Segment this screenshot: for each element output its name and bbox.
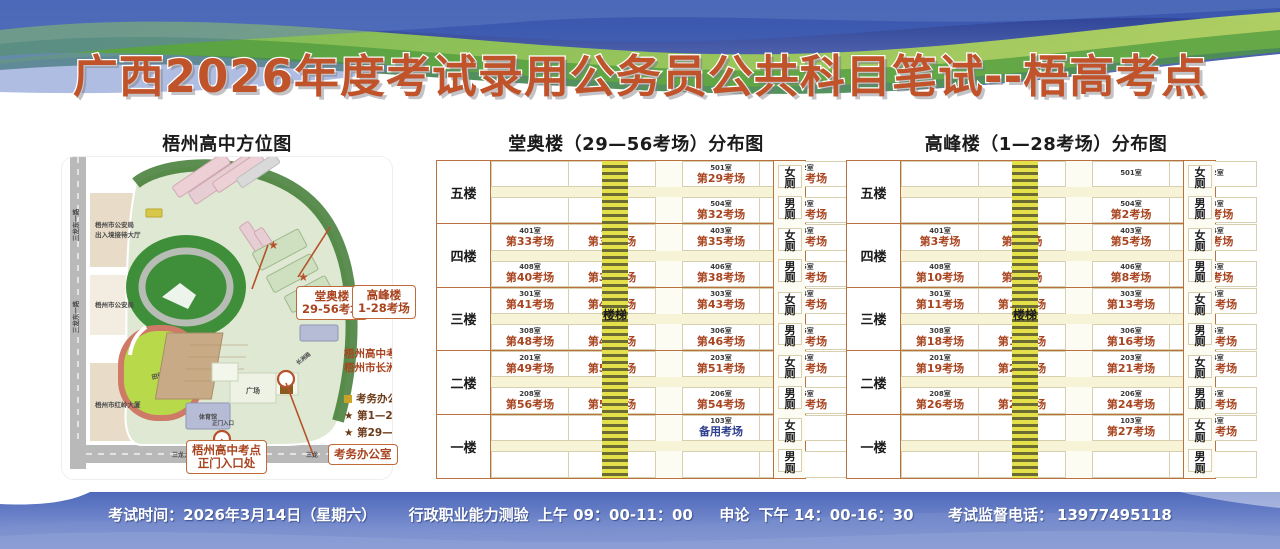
corridor (901, 377, 1183, 387)
restroom-female: 女厕 (1188, 228, 1212, 251)
exam-room-cell[interactable]: 303室第43考场 (682, 288, 760, 314)
restroom-male: 男厕 (778, 259, 802, 282)
tangao-panel-title: 堂奥楼（29—56考场）分布图 (436, 130, 836, 156)
room-number: 203室 (1120, 355, 1142, 362)
callout-gaofeng: 高峰楼1-28考场 (352, 285, 416, 319)
exam-room-name: 第21考场 (1107, 363, 1155, 374)
room-band-bottom: 408室第10考场407室第9考场406室第8考场405室第7考场 (901, 261, 1183, 287)
title-container: 广西2026年度考试录用公务员公共科目笔试--梧高考点 (0, 40, 1280, 112)
room-band-top: 501室502室 (901, 161, 1183, 187)
corridor (491, 187, 773, 197)
exam-room-name: 第49考场 (506, 363, 554, 374)
corridor (901, 251, 1183, 261)
exam-room-cell[interactable]: 301室第11考场 (901, 288, 979, 314)
header-banner: 广西2026年度考试录用公务员公共科目笔试--梧高考点 (0, 0, 1280, 118)
label-police-reception-1: 梧州市公安局 (95, 220, 135, 229)
footer-subject-1: 行政职业能力测验 (409, 506, 529, 524)
room-band-top: 201室第19考场202室第20考场203室第21考场204室第22考场 (901, 351, 1183, 377)
room-number: 306室 (710, 328, 732, 335)
room-band-bottom: 504室第2考场503室第1考场 (901, 197, 1183, 223)
empty-cell (491, 415, 569, 442)
page-title: 广西2026年度考试录用公务员公共科目笔试--梧高考点 (73, 40, 1208, 105)
exam-room-cell[interactable]: 504室第2考场 (1092, 197, 1170, 223)
corridor (491, 251, 773, 261)
room-band-bottom: 208室第26考场207室第25考场206室第24考场205室第23考场 (901, 387, 1183, 413)
exam-room-cell[interactable]: 203室第51考场 (682, 351, 760, 377)
floor-label: 三楼 (437, 288, 491, 350)
map-panel-title: 梧州高中方位图 (62, 130, 392, 156)
exam-room-name: 第32考场 (697, 209, 745, 220)
star-gaofeng: ★ (298, 270, 309, 284)
exam-room-cell[interactable]: 303室第13考场 (1092, 288, 1170, 314)
room-band-top: 201室第49考场202室第50考场203室第51考场204室第52考场 (491, 351, 773, 377)
room-number: 504室 (710, 201, 732, 208)
exam-room-name: 第16考场 (1107, 336, 1155, 347)
corridor (901, 314, 1183, 324)
restroom-female: 女厕 (1188, 418, 1212, 441)
exam-room-name: 第2考场 (1111, 209, 1152, 220)
room-band-bottom: 308室第18考场307室第17考场306室第16考场305室第15考场 (901, 324, 1183, 350)
restroom-female: 女厕 (778, 228, 802, 251)
exam-room-name: 第18考场 (916, 336, 964, 347)
restroom-female: 女厕 (1188, 165, 1212, 188)
floor-rooms: 501室第29考场502室第30考场504室第32考场503室第31考场 (491, 161, 773, 223)
room-band-bottom: 308室第48考场307室第47考场306室第46考场305室第45考场 (491, 324, 773, 350)
empty-cell (901, 197, 979, 223)
legend-item-tangao: ★ 第29—56考场在堂奥楼 (344, 425, 392, 440)
legend-item-gaofeng: ★ 第1—28考场在高峰楼 (344, 408, 392, 423)
exam-room-cell[interactable]: 301室第41考场 (491, 288, 569, 314)
restroom-female: 女厕 (1188, 355, 1212, 378)
exam-room-cell[interactable]: 403室第5考场 (1092, 224, 1170, 250)
restroom-male: 男厕 (1188, 449, 1212, 472)
exam-room-cell[interactable]: 408室第10考场 (901, 261, 979, 287)
room-band-top: 501室第29考场502室第30考场 (491, 161, 773, 187)
restroom-male: 男厕 (778, 449, 802, 472)
footer-hotline-label: 考试监督电话： (948, 506, 1053, 524)
exam-room-cell[interactable]: 501室 (1092, 161, 1170, 187)
room-number: 206室 (1120, 391, 1142, 398)
exam-room-name: 第13考场 (1107, 299, 1155, 310)
room-number: 403室 (1120, 228, 1142, 235)
floor-rooms: 301室第11考场302室第12考场303室第13考场304室第14考场308室… (901, 288, 1183, 350)
room-band-top: 103室第27考场104室第28考场 (901, 415, 1183, 442)
exam-room-name: 第8考场 (1111, 272, 1152, 283)
footer-time-2: 下午 14：00-16：30 (759, 506, 914, 524)
exam-room-cell[interactable]: 103室备用考场 (682, 415, 760, 442)
floor-label: 四楼 (847, 224, 901, 286)
floor-label: 三楼 (847, 288, 901, 350)
room-band-bottom: 504室第32考场503室第31考场 (491, 197, 773, 223)
exam-room-name: 第41考场 (506, 299, 554, 310)
floor-rooms: 501室502室504室第2考场503室第1考场 (901, 161, 1183, 223)
exam-room-cell[interactable]: 406室第38考场 (682, 261, 760, 287)
room-band-bottom (901, 451, 1183, 478)
exam-room-cell[interactable]: 408室第40考场 (491, 261, 569, 287)
corridor (491, 441, 773, 451)
tangao-restroom-column: 女厕男厕女厕男厕女厕男厕女厕男厕女厕男厕 (773, 161, 805, 478)
exam-room-cell[interactable]: 201室第19考场 (901, 351, 979, 377)
gate-inner-label: 正门入口 (212, 419, 234, 427)
restroom-male: 男厕 (1188, 386, 1212, 409)
floor-label: 五楼 (437, 161, 491, 223)
exam-room-name: 第29考场 (697, 173, 745, 184)
corridor (491, 314, 773, 324)
room-number: 403室 (710, 228, 732, 235)
exam-room-cell[interactable]: 206室第54考场 (682, 387, 760, 413)
restroom-male: 男厕 (1188, 323, 1212, 346)
map-address-line2: 梧州市长洲区梧高北路1号 (344, 361, 392, 375)
exam-room-name: 第26考场 (916, 399, 964, 410)
exam-room-name: 第11考场 (916, 299, 964, 310)
exam-room-name: 第48考场 (506, 336, 554, 347)
room-band-bottom (491, 451, 773, 478)
floor-label: 一楼 (847, 415, 901, 478)
exam-room-name: 第3考场 (920, 236, 961, 247)
label-police-reception-2: 出入境接待大厅 (95, 230, 141, 239)
room-number: 201室 (519, 355, 541, 362)
exam-room-name: 备用考场 (699, 426, 743, 437)
exam-room-cell[interactable]: 501室第29考场 (682, 161, 760, 187)
floor-rooms: 201室第19考场202室第20考场203室第21考场204室第22考场208室… (901, 351, 1183, 413)
floor-label: 四楼 (437, 224, 491, 286)
exam-room-cell[interactable]: 401室第3考场 (901, 224, 979, 250)
map-address: 梧州高中考点地址： 梧州市长洲区梧高北路1号 (344, 347, 392, 375)
restroom-male: 男厕 (1188, 196, 1212, 219)
exam-room-name: 第33考场 (506, 236, 554, 247)
restroom-female: 女厕 (1188, 292, 1212, 315)
exam-room-name: 第43考场 (697, 299, 745, 310)
exam-room-name: 第10考场 (916, 272, 964, 283)
restroom-female: 女厕 (778, 418, 802, 441)
label-hongling: 梧州市红岭大厦 (95, 400, 141, 409)
exam-room-cell[interactable]: 208室第26考场 (901, 387, 979, 413)
room-band-bottom: 408室第40考场407室第39考场406室第38考场405室第37考场 (491, 261, 773, 287)
room-band-top: 103室备用考场 (491, 415, 773, 442)
empty-cell (901, 451, 979, 478)
legend-item-office: 考务办公室 (344, 391, 392, 406)
room-band-top: 301室第41考场302室第42考场303室第43考场304室第44考场 (491, 288, 773, 314)
office-square-icon (344, 395, 352, 403)
room-number: 208室 (929, 391, 951, 398)
room-band-top: 401室第33考场402室第34考场403室第35考场404室第36考场 (491, 224, 773, 250)
restroom-male: 男厕 (778, 323, 802, 346)
room-band-bottom: 208室第56考场207室第55考场206室第54考场205室第53考场 (491, 387, 773, 413)
exam-room-name: 第46考场 (697, 336, 745, 347)
exam-room-cell[interactable]: 208室第56考场 (491, 387, 569, 413)
footer-exam-time: 考试时间：2026年3月14日（星期六） (108, 506, 376, 524)
floor-label: 二楼 (847, 351, 901, 413)
exam-room-cell[interactable]: 103室第27考场 (1092, 415, 1170, 442)
corridor (901, 187, 1183, 197)
callout-exam-office: 考务办公室 (328, 444, 398, 465)
footer-subject-2: 申论 (719, 506, 749, 524)
exam-room-name: 第56考场 (506, 399, 554, 410)
floor-rooms: 401室第33考场402室第34考场403室第35考场404室第36考场408室… (491, 224, 773, 286)
footer-hotline-number: 13977495118 (1057, 506, 1172, 524)
room-number: 501室 (1120, 170, 1142, 177)
restroom-female: 女厕 (778, 292, 802, 315)
exam-room-name: 第54考场 (697, 399, 745, 410)
room-number: 308室 (929, 328, 951, 335)
exam-room-name: 第40考场 (506, 272, 554, 283)
gym-label: 体育馆 (199, 413, 217, 421)
empty-cell (901, 415, 979, 442)
exam-room-cell[interactable]: 308室第18考场 (901, 324, 979, 350)
gaofeng-restroom-column: 女厕男厕女厕男厕女厕男厕女厕男厕女厕男厕 (1183, 161, 1215, 478)
road-label-south2: 三龙 (306, 451, 318, 459)
callout-main-gate: 梧州高中考点正门入口处 (186, 440, 267, 474)
exam-room-name: 第19考场 (916, 363, 964, 374)
exam-room-name: 第38考场 (697, 272, 745, 283)
empty-cell (682, 451, 760, 478)
map-legend: 梧州高中考点地址： 梧州市长洲区梧高北路1号 考务办公室 ★ 第1—28考场在高… (344, 347, 392, 440)
room-number: 308室 (519, 328, 541, 335)
map-address-line1: 梧州高中考点地址： (344, 347, 392, 361)
corridor (491, 377, 773, 387)
exam-room-cell[interactable]: 504室第32考场 (682, 197, 760, 223)
road-label-west2: 三龙东一路 (71, 208, 80, 241)
floor-rooms: 401室第3考场402室第4考场403室第5考场404室第6考场408室第10考… (901, 224, 1183, 286)
room-number: 401室 (519, 228, 541, 235)
restroom-female: 女厕 (778, 355, 802, 378)
restroom-male: 男厕 (778, 196, 802, 219)
floor-rooms: 103室第27考场104室第28考场 (901, 415, 1183, 478)
exam-room-cell[interactable]: 403室第35考场 (682, 224, 760, 250)
room-band-top: 301室第11考场302室第12考场303室第13考场304室第14考场 (901, 288, 1183, 314)
gaofeng-panel-title: 高峰楼（1—28考场）分布图 (846, 130, 1246, 156)
floor-label: 二楼 (437, 351, 491, 413)
empty-cell (491, 161, 569, 187)
exam-room-cell[interactable]: 401室第33考场 (491, 224, 569, 250)
floor-rooms: 103室备用考场 (491, 415, 773, 478)
restroom-male: 男厕 (1188, 259, 1212, 282)
room-number: 206室 (710, 391, 732, 398)
floor-rooms: 201室第49考场202室第50考场203室第51考场204室第52考场208室… (491, 351, 773, 413)
exam-room-cell[interactable]: 406室第8考场 (1092, 261, 1170, 287)
star-tangao: ★ (268, 238, 279, 252)
room-number: 501室 (710, 165, 732, 172)
gaofeng-floor-plan[interactable]: 五楼501室502室504室第2考场503室第1考场四楼401室第3考场402室… (846, 160, 1216, 479)
room-number: 504室 (1120, 201, 1142, 208)
exam-room-cell[interactable]: 306室第46考场 (682, 324, 760, 350)
exam-room-name: 第24考场 (1107, 399, 1155, 410)
exam-room-cell[interactable]: 206室第24考场 (1092, 387, 1170, 413)
empty-cell (491, 451, 569, 478)
footer-bar: 考试时间：2026年3月14日（星期六） 行政职业能力测验 上午 09：00-1… (0, 492, 1280, 549)
restroom-male: 男厕 (778, 386, 802, 409)
floor-rooms: 301室第41考场302室第42考场303室第43考场304室第44考场308室… (491, 288, 773, 350)
tangao-floor-plan[interactable]: 五楼501室第29考场502室第30考场504室第32考场503室第31考场四楼… (436, 160, 806, 479)
room-number: 208室 (519, 391, 541, 398)
empty-cell (901, 161, 979, 187)
footer-time-1: 上午 09：00-11：00 (538, 506, 693, 524)
label-police: 梧州市公安局 (95, 300, 135, 309)
room-number: 201室 (929, 355, 951, 362)
floor-label: 五楼 (847, 161, 901, 223)
corridor (901, 441, 1183, 451)
exam-room-cell[interactable]: 201室第49考场 (491, 351, 569, 377)
plaza-label: 广场 (246, 386, 260, 395)
exam-room-name: 第5考场 (1111, 236, 1152, 247)
exam-room-cell[interactable]: 203室第21考场 (1092, 351, 1170, 377)
gaofeng-stairs-label: 楼梯 (1012, 309, 1038, 322)
floor-label: 一楼 (437, 415, 491, 478)
room-number: 306室 (1120, 328, 1142, 335)
restroom-female: 女厕 (778, 165, 802, 188)
room-number: 203室 (710, 355, 732, 362)
empty-cell (491, 197, 569, 223)
exam-room-name: 第35考场 (697, 236, 745, 247)
footer-text: 考试时间：2026年3月14日（星期六） 行政职业能力测验 上午 09：00-1… (0, 504, 1280, 525)
exam-room-cell[interactable]: 308室第48考场 (491, 324, 569, 350)
exam-room-name: 第27考场 (1107, 426, 1155, 437)
room-band-top: 401室第3考场402室第4考场403室第5考场404室第6考场 (901, 224, 1183, 250)
exam-room-cell[interactable]: 306室第16考场 (1092, 324, 1170, 350)
room-number: 401室 (929, 228, 951, 235)
tangao-stairs-label: 楼梯 (602, 309, 628, 322)
empty-cell (1092, 451, 1170, 478)
road-label-west: 三龙东一路 (71, 300, 80, 333)
exam-room-name: 第51考场 (697, 363, 745, 374)
